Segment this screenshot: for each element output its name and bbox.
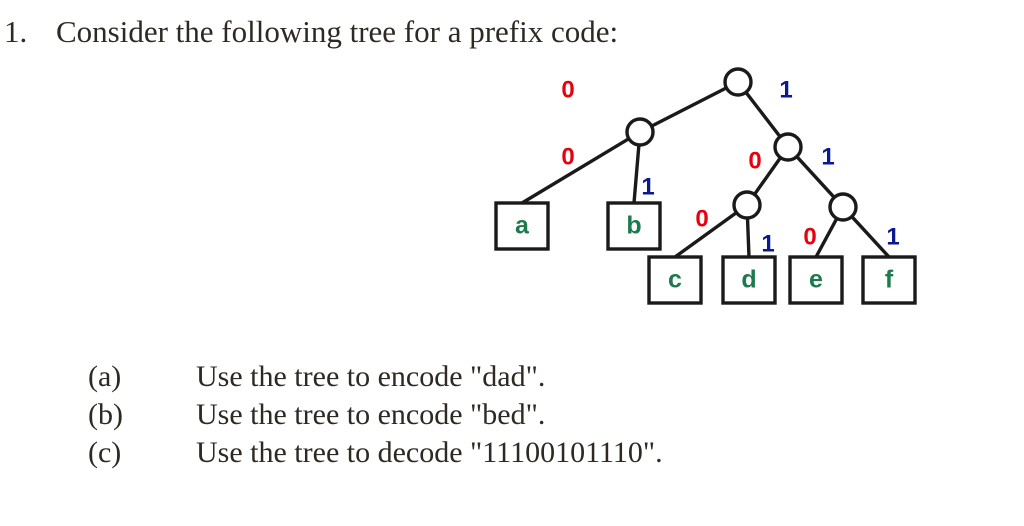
subquestion-tag: (a) xyxy=(88,358,196,396)
edge-bit-label-n11-f: 1 xyxy=(886,223,899,250)
edge-bit-label-n0-b: 1 xyxy=(641,173,654,200)
tree-node-n10 xyxy=(734,192,760,218)
leaf-letter-a: a xyxy=(515,212,530,240)
tree-edge-n11-f xyxy=(852,217,889,257)
tree-leaf-f: f xyxy=(863,257,915,303)
tree-node-root xyxy=(725,69,751,95)
prefix-code-tree: abcdef 0101010101 xyxy=(470,58,940,323)
edge-bit-label-root-n1: 1 xyxy=(779,76,792,103)
edge-bit-label-root-n0: 0 xyxy=(561,76,574,103)
edge-bit-label-n10-d: 1 xyxy=(761,230,774,257)
question-heading: 1.Consider the following tree for a pref… xyxy=(4,13,984,51)
question-number: 1. xyxy=(4,13,56,51)
subquestion-tag: (c) xyxy=(88,434,196,472)
list-item: (a)Use the tree to encode "dad". xyxy=(88,358,948,396)
tree-edge-n0-b xyxy=(634,145,639,203)
tree-leaf-c: c xyxy=(649,257,701,303)
leaf-letter-c: c xyxy=(668,266,682,294)
list-item: (c)Use the tree to decode "11100101110". xyxy=(88,434,948,472)
tree-leaf-e: e xyxy=(790,257,842,303)
tree-leaf-a: a xyxy=(496,203,548,249)
tree-edge-root-n0 xyxy=(652,88,727,126)
tree-edge-n11-e xyxy=(816,218,837,257)
tree-svg: abcdef 0101010101 xyxy=(470,58,940,323)
leaf-letter-b: b xyxy=(626,212,641,240)
edge-bit-label-n0-a: 0 xyxy=(561,143,574,170)
subquestion-tag: (b) xyxy=(88,396,196,434)
subquestion-text: Use the tree to encode "dad". xyxy=(196,358,545,396)
list-item: (b)Use the tree to encode "bed". xyxy=(88,396,948,434)
tree-edge-root-n1 xyxy=(746,92,780,136)
tree-node-n0 xyxy=(627,119,653,145)
leaf-letter-e: e xyxy=(809,266,823,294)
edge-bit-label-n10-c: 0 xyxy=(695,205,708,232)
subquestion-list: (a)Use the tree to encode "dad". (b)Use … xyxy=(88,358,948,472)
tree-leaf-b: b xyxy=(608,203,660,249)
edge-bit-label-n1-n10: 0 xyxy=(748,147,761,174)
subquestion-text: Use the tree to encode "bed". xyxy=(196,396,545,434)
tree-node-n1 xyxy=(775,134,801,160)
question-prompt: Consider the following tree for a prefix… xyxy=(56,13,618,51)
tree-edge-n0-a xyxy=(522,139,629,203)
tree-leaf-d: d xyxy=(723,257,775,303)
subquestion-text: Use the tree to decode "11100101110". xyxy=(196,434,663,472)
leaf-letter-d: d xyxy=(741,266,756,294)
tree-node-n11 xyxy=(830,194,856,220)
edge-bit-label-n11-e: 0 xyxy=(803,223,816,250)
leaf-letter-f: f xyxy=(885,266,894,294)
edge-bit-label-n1-n11: 1 xyxy=(821,143,834,170)
worksheet-page: 1.Consider the following tree for a pref… xyxy=(0,0,1024,526)
tree-edge-n10-d xyxy=(747,218,749,257)
